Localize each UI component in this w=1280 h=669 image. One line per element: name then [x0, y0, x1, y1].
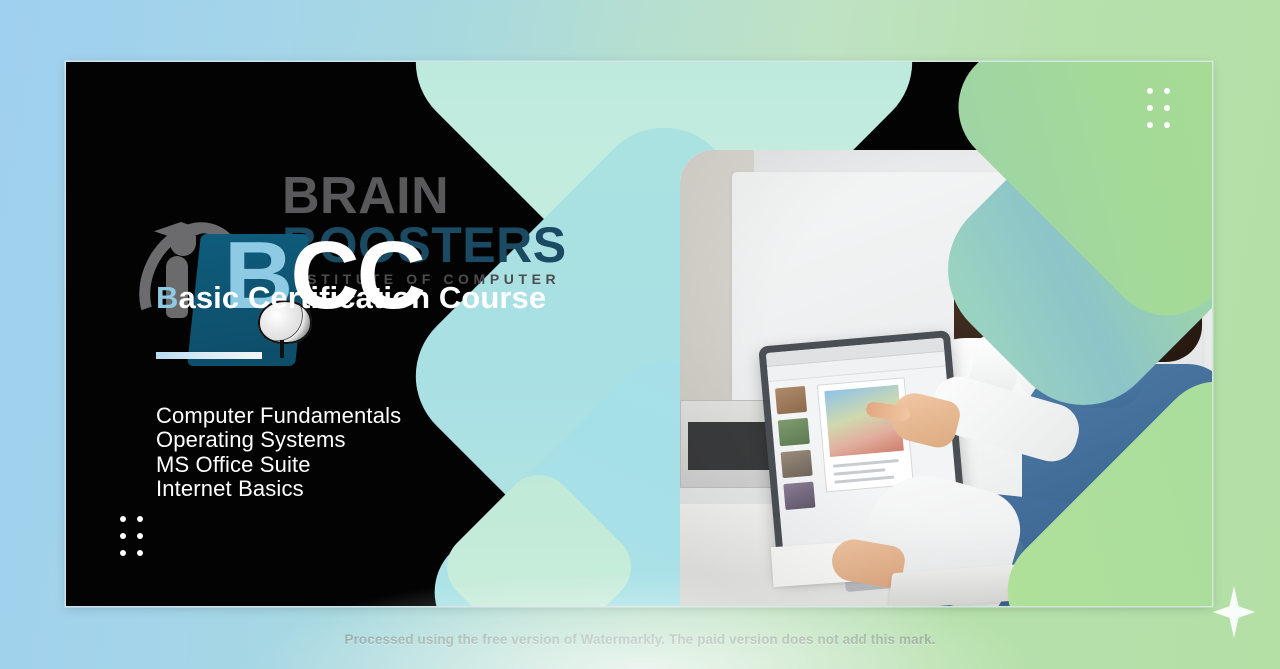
dot	[1147, 88, 1153, 94]
dot	[1147, 105, 1153, 111]
dot	[137, 550, 143, 556]
subtitle-lead-letter: B	[156, 280, 179, 315]
list-item: Computer Fundamentals	[156, 404, 556, 428]
brain-stem-icon	[280, 340, 284, 358]
subtitle-rest: asic Certification Course	[179, 280, 547, 315]
accent-divider	[156, 352, 262, 359]
dot	[120, 516, 126, 522]
dot	[1147, 122, 1153, 128]
photo-vignette	[680, 150, 1212, 606]
list-item: Internet Basics	[156, 477, 556, 501]
dot	[1164, 105, 1170, 111]
list-item: MS Office Suite	[156, 453, 556, 477]
dot	[120, 550, 126, 556]
slide: BRAIN BOOSTERS INSTITUTE OF COMPUTER BCC…	[66, 62, 1212, 606]
dot	[137, 533, 143, 539]
dot-grid-icon	[120, 516, 143, 556]
sparkle-icon	[1213, 586, 1255, 638]
topic-list: Computer Fundamentals Operating Systems …	[156, 404, 556, 501]
watermark-notice: Processed using the free version of Wate…	[0, 632, 1280, 647]
slide-subtitle: Basic Certification Course	[156, 282, 546, 313]
list-item: Operating Systems	[156, 428, 556, 452]
brand-wordmark-line-1: BRAIN	[282, 170, 449, 222]
presentation-canvas: BRAIN BOOSTERS INSTITUTE OF COMPUTER BCC…	[0, 0, 1280, 669]
dot	[1164, 88, 1170, 94]
dot-grid-icon	[1147, 88, 1170, 128]
dot	[137, 516, 143, 522]
classroom-photo	[680, 150, 1212, 606]
dot	[1164, 122, 1170, 128]
dot	[120, 533, 126, 539]
